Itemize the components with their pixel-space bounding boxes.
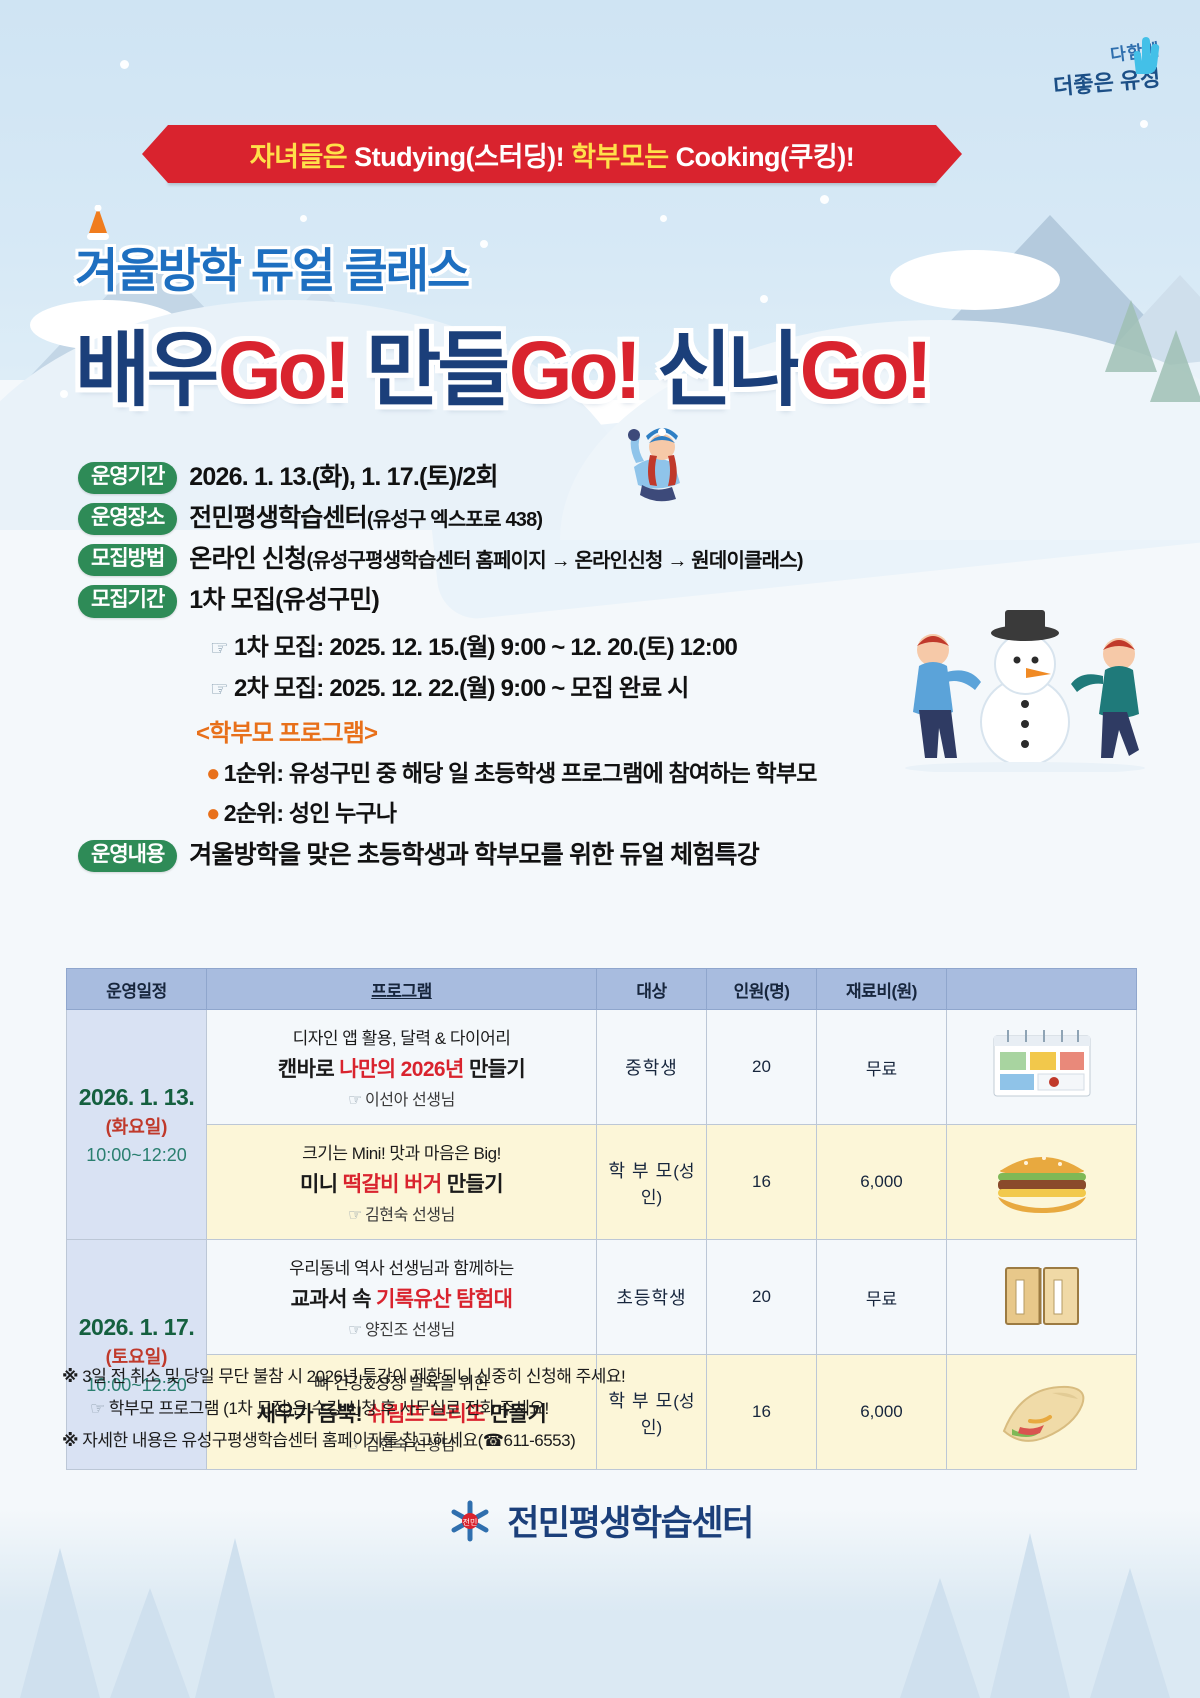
program-main-post-2: 만들기 — [442, 1173, 503, 1196]
th-capacity: 인원(명) — [707, 969, 817, 1010]
snowflake-dot-icon — [1140, 120, 1148, 128]
cell-program-3: 우리동네 역사 선생님과 함께하는 교과서 속 기록유산 탐험대 ☞양진조 선생… — [207, 1240, 597, 1355]
cell-thumb-2 — [947, 1125, 1137, 1240]
cell-fee-1: 무료 — [817, 1010, 947, 1125]
table-row: 2026. 1. 13. (화요일) 10:00~12:20 디자인 앱 활용,… — [67, 1010, 1137, 1125]
info-tag-recruit: 모집기간 — [78, 585, 177, 617]
pointer-icon: ☞ — [348, 1207, 362, 1224]
program-main-2: 미니 떡갈비 버거 만들기 — [215, 1168, 588, 1198]
info-row-place: 운영장소 전민평생학습센터(유성구 엑스포로 438) — [78, 503, 958, 535]
cell-thumb-3 — [947, 1240, 1137, 1355]
program-main-post-1: 만들기 — [464, 1058, 525, 1081]
cell-fee-3: 무료 — [817, 1240, 947, 1355]
calendar-icon — [982, 1026, 1102, 1104]
snowflake-dot-icon — [660, 215, 667, 222]
th-program: 프로그램 — [207, 969, 597, 1010]
poster-root: 다함께 더좋은 유성 자녀들은 Studying(스터딩)! 학부모는 Cook… — [0, 0, 1200, 1698]
pointer-icon: ☞ — [210, 678, 228, 701]
info-row-method: 모집방법 온라인 신청(유성구평생학습센터 홈페이지 → 온라인신청 → 원데이… — [78, 544, 958, 576]
th-target: 대상 — [597, 969, 707, 1010]
ribbon-part3: 학부모는 — [571, 142, 668, 172]
table-row: 2026. 1. 17. (토요일) 10:00~12:20 우리동네 역사 선… — [67, 1240, 1137, 1355]
city-emblem: 다함께 더좋은 유성 — [1000, 38, 1160, 118]
priority-line-2: ●2순위: 성인 누구나 — [206, 794, 958, 828]
table-row: 크기는 Mini! 맛과 마음은 Big! 미니 떡갈비 버거 만들기 ☞김현숙… — [67, 1125, 1137, 1240]
waving-hand-icon — [1124, 34, 1164, 78]
title-part-4: 신나 — [638, 325, 800, 416]
cell-target-2: 학 부 모(성인) — [597, 1125, 707, 1240]
note-2: ☞학부모 프로그램 (1차 모집)은 수강 신청 후 사무실로 전화 주세요! — [90, 1394, 1062, 1419]
place-address: (유성구 엑스포로 438) — [367, 509, 542, 531]
cell-program-2: 크기는 Mini! 맛과 마음은 Big! 미니 떡갈비 버거 만들기 ☞김현숙… — [207, 1125, 597, 1240]
snowflake-dot-icon — [120, 60, 129, 69]
cell-capacity-3: 20 — [707, 1240, 817, 1355]
info-value-method: 온라인 신청(유성구평생학습센터 홈페이지 → 온라인신청 → 원데이클래스) — [189, 544, 802, 575]
table-header-row: 운영일정 프로그램 대상 인원(명) 재료비(원) — [67, 969, 1137, 1010]
pointer-icon: ☞ — [348, 1092, 362, 1109]
notes-section: ※ 3일 전 취소 및 당일 무단 불참 시 2026년 특강이 제한되니 신중… — [62, 1362, 1062, 1458]
title-part-2: 만들 — [347, 325, 509, 416]
place-main: 전민평생학습센터 — [189, 504, 367, 532]
title-part-0: 배우 — [75, 325, 218, 416]
poster-title: 배우Go! 만들Go! 신나Go! — [75, 303, 929, 422]
title-part-3: Go! — [509, 325, 638, 416]
snowcap-icon — [890, 250, 1060, 310]
program-main-pre-3: 교과서 속 — [291, 1288, 376, 1311]
pointer-icon: ☞ — [210, 637, 228, 660]
recruit-line-2-text: 2차 모집: 2025. 12. 22.(월) 9:00 ~ 모집 완료 시 — [234, 675, 689, 702]
program-main-pre-1: 캔바로 — [278, 1058, 339, 1081]
svg-text:전민: 전민 — [463, 1517, 478, 1527]
teacher-name-3: 양진조 선생님 — [365, 1322, 455, 1339]
ribbon-part2: Studying(스터딩)! — [354, 142, 564, 172]
bullet-dot-icon: ● — [206, 800, 220, 827]
info-row-period: 운영기간 2026. 1. 13.(화), 1. 17.(토)/2회 — [78, 462, 958, 494]
info-tag-period: 운영기간 — [78, 462, 177, 494]
cell-date-1: 2026. 1. 13. (화요일) 10:00~12:20 — [67, 1010, 207, 1240]
note-1-text: 3일 전 취소 및 당일 무단 불참 시 2026년 특강이 제한되니 신중히 … — [82, 1367, 625, 1386]
date-big-1: 2026. 1. 13. — [68, 1084, 205, 1111]
program-main-red-1: 나만의 2026년 — [339, 1058, 463, 1081]
program-top-2: 크기는 Mini! 맛과 마음은 Big! — [215, 1139, 588, 1164]
snowflake-dot-icon — [820, 195, 829, 204]
date-time-1: 10:00~12:20 — [68, 1145, 205, 1166]
note-2-text: 학부모 프로그램 (1차 모집)은 수강 신청 후 사무실로 전화 주세요! — [109, 1399, 549, 1418]
info-value-recruit: 1차 모집(유성구민) — [189, 585, 379, 616]
date-big-2: 2026. 1. 17. — [68, 1314, 205, 1341]
title-part-5: Go! — [800, 325, 929, 416]
snowflake-dot-icon — [760, 295, 768, 303]
program-teacher-1: ☞이선아 선생님 — [215, 1086, 588, 1110]
program-main-1: 캔바로 나만의 2026년 만들기 — [215, 1053, 588, 1083]
teacher-name-1: 이선아 선생님 — [365, 1092, 455, 1109]
recruit-line-1: ☞1차 모집: 2025. 12. 15.(월) 9:00 ~ 12. 20.(… — [210, 627, 958, 662]
target-text-1: 중학생 — [625, 1058, 678, 1078]
info-value-period: 2026. 1. 13.(화), 1. 17.(토)/2회 — [189, 462, 497, 493]
program-main-3: 교과서 속 기록유산 탐험대 — [215, 1283, 588, 1313]
pine-tree-icon — [1150, 330, 1200, 402]
snowflake-dot-icon — [480, 240, 488, 248]
target-text-2: 학 부 모 — [609, 1161, 674, 1181]
program-teacher-3: ☞양진조 선생님 — [215, 1316, 588, 1340]
priority-line-1: ●1순위: 유성구민 중 해당 일 초등학생 프로그램에 참여하는 학부모 — [206, 754, 958, 788]
program-main-pre-2: 미니 — [300, 1173, 343, 1196]
cell-program-1: 디자인 앱 활용, 달력 & 다이어리 캔바로 나만의 2026년 만들기 ☞이… — [207, 1010, 597, 1125]
cell-capacity-1: 20 — [707, 1010, 817, 1125]
program-top-3: 우리동네 역사 선생님과 함께하는 — [215, 1254, 588, 1279]
snowflake-dot-icon — [300, 215, 307, 222]
teacher-name-2: 김현숙 선생님 — [365, 1207, 455, 1224]
book-icon — [982, 1256, 1102, 1334]
cell-target-3: 초등학생 — [597, 1240, 707, 1355]
ribbon-part4: Cooking(쿠킹)! — [676, 142, 855, 172]
priority-line-2-text: 2순위: 성인 누구나 — [224, 800, 397, 826]
info-tag-place: 운영장소 — [78, 503, 177, 535]
date-day-1: (화요일) — [68, 1113, 205, 1139]
program-top-1: 디자인 앱 활용, 달력 & 다이어리 — [215, 1024, 588, 1049]
note-1: ※ 3일 전 취소 및 당일 무단 불참 시 2026년 특강이 제한되니 신중… — [62, 1362, 1062, 1387]
th-thumbnail — [947, 969, 1137, 1010]
program-teacher-2: ☞김현숙 선생님 — [215, 1201, 588, 1225]
asterisk-icon: ※ — [62, 1431, 78, 1450]
ribbon-banner: 자녀들은 Studying(스터딩)! 학부모는 Cooking(쿠킹)! — [168, 125, 936, 183]
recruit-line-1-text: 1차 모집: 2025. 12. 15.(월) 9:00 ~ 12. 20.(토… — [234, 634, 737, 661]
note-3-text: 자세한 내용은 유성구평생학습센터 홈페이지를 참고하세요(☎611-6553) — [82, 1431, 575, 1450]
pointer-icon: ☞ — [90, 1399, 105, 1418]
info-tag-method: 모집방법 — [78, 544, 177, 576]
method-detail: (유성구평생학습센터 홈페이지 → 온라인신청 → 원데이클래스) — [306, 550, 802, 572]
th-program-label: 프로그램 — [371, 982, 432, 1001]
poster-subtitle: 겨울방학 듀얼 클래스 — [75, 232, 468, 301]
cell-thumb-1 — [947, 1010, 1137, 1125]
asterisk-icon: ※ — [62, 1367, 78, 1386]
snowflake-dot-icon — [1000, 270, 1007, 277]
cell-fee-2: 6,000 — [817, 1125, 947, 1240]
footer-logo: 전민 전민평생학습센터 — [0, 1495, 1200, 1546]
th-fee: 재료비(원) — [817, 969, 947, 1010]
title-part-1: Go! — [218, 325, 347, 416]
burger-icon — [982, 1141, 1102, 1219]
info-tag-content: 운영내용 — [78, 840, 177, 872]
program-main-red-3: 기록유산 탐험대 — [376, 1288, 512, 1311]
info-row-recruit: 모집기간 1차 모집(유성구민) — [78, 585, 958, 617]
recruit-line-2: ☞2차 모집: 2025. 12. 22.(월) 9:00 ~ 모집 완료 시 — [210, 668, 958, 703]
th-schedule: 운영일정 — [67, 969, 207, 1010]
target-text-3: 초등학생 — [616, 1288, 686, 1308]
info-section: 운영기간 2026. 1. 13.(화), 1. 17.(토)/2회 운영장소 … — [78, 462, 958, 881]
snowflake-dot-icon — [60, 390, 68, 398]
bullet-dot-icon: ● — [206, 760, 220, 787]
info-value-content: 겨울방학을 맞은 초등학생과 학부모를 위한 듀얼 체험특강 — [189, 840, 759, 871]
footer-logo-text: 전민평생학습센터 — [507, 1495, 753, 1546]
method-main: 온라인 신청 — [189, 545, 306, 573]
cell-target-1: 중학생 — [597, 1010, 707, 1125]
info-row-content: 운영내용 겨울방학을 맞은 초등학생과 학부모를 위한 듀얼 체험특강 — [78, 840, 958, 872]
parent-program-heading: <학부모 프로그램> — [196, 713, 958, 748]
info-value-place: 전민평생학습센터(유성구 엑스포로 438) — [189, 503, 542, 534]
ribbon-text: 자녀들은 Studying(스터딩)! 학부모는 Cooking(쿠킹)! — [250, 135, 854, 174]
pointer-icon: ☞ — [348, 1322, 362, 1339]
program-main-red-2: 떡갈비 버거 — [343, 1173, 442, 1196]
snowman-illustration — [875, 592, 1175, 772]
cell-capacity-2: 16 — [707, 1125, 817, 1240]
ribbon-part1: 자녀들은 — [250, 142, 347, 172]
priority-line-1-text: 1순위: 유성구민 중 해당 일 초등학생 프로그램에 참여하는 학부모 — [224, 760, 817, 786]
note-3: ※ 자세한 내용은 유성구평생학습센터 홈페이지를 참고하세요(☎611-655… — [62, 1426, 1062, 1451]
snowflake-logo-icon: 전민 — [447, 1498, 493, 1544]
